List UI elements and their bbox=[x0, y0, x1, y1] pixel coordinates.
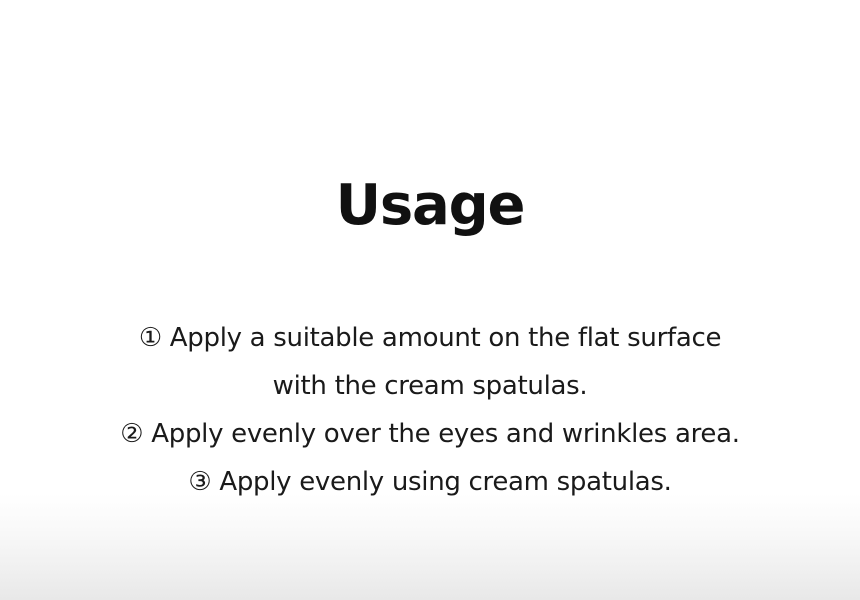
instruction-line-4: ③ Apply evenly using cream spatulas. bbox=[0, 458, 860, 506]
page-title: Usage bbox=[0, 178, 860, 234]
instruction-line-2: with the cream spatulas. bbox=[0, 362, 860, 410]
bottom-gradient-band bbox=[0, 493, 860, 600]
slide-canvas: Usage ① Apply a suitable amount on the f… bbox=[0, 0, 860, 600]
usage-instruction-list: ① Apply a suitable amount on the flat su… bbox=[0, 314, 860, 506]
instruction-line-3: ② Apply evenly over the eyes and wrinkle… bbox=[0, 410, 860, 458]
instruction-line-1: ① Apply a suitable amount on the flat su… bbox=[0, 314, 860, 362]
